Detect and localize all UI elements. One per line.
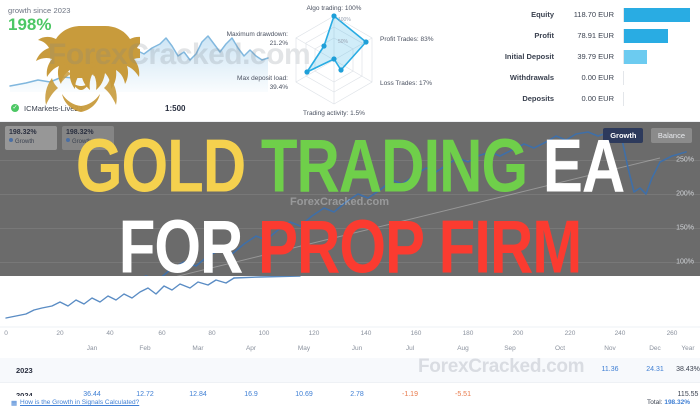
stat-label: Deposits [480,94,554,103]
stat-bar-track [623,29,691,43]
broker-name: ICMarkets-Live23 [24,104,83,113]
stat-bar-track [623,71,691,85]
month-header-jul: Jul [406,345,414,352]
stat-value: 118.70 EUR [560,10,614,19]
x-tick: 240 [615,330,626,337]
growth-chart-tail [0,276,700,332]
stats-table: Equity 118.70 EUR Profit 78.91 EUR Initi… [480,6,694,118]
x-tick: 180 [463,330,474,337]
cell-2023-dec: 24.31 [646,366,664,373]
stat-bar [624,8,690,22]
stat-bar-track [623,92,691,106]
stat-value: 78.91 EUR [560,31,614,40]
radar-ring-outer-label: 100% [338,17,351,23]
stat-row-withdrawals: Withdrawals 0.00 EUR [480,69,694,90]
series-dot-icon [9,138,13,142]
stat-bar [624,50,647,64]
x-tick: 40 [106,330,113,337]
x-tick: 140 [361,330,372,337]
row-year-label: 2023 [16,366,33,375]
month-header-nov: Nov [604,345,616,352]
cell-2023-nov: 11.36 [602,366,619,373]
x-tick: 0 [4,330,8,337]
footer-total: Total: 198.32% [647,399,690,406]
month-header-mar: Mar [192,345,203,352]
radar-label-profit-trades: Profit Trades: 83% [380,36,434,43]
stat-value: 0.00 EUR [560,73,614,82]
radar-ring-inner-label: 50% [338,39,349,45]
stat-label: Profit [480,31,554,40]
tab-growth[interactable]: Growth [603,128,643,143]
month-header-oct: Oct [555,345,565,352]
radar-label-algo-trading: Algo trading: 100% [307,5,362,12]
stat-label: Initial Deposit [480,52,554,61]
radar-label-trading-activity: Trading activity: 1.5% [303,110,365,117]
x-tick: 160 [411,330,422,337]
x-tick: 120 [309,330,320,337]
table-row: 2023 11.36 24.31 38.43% [0,358,700,382]
month-header-apr: Apr [246,345,256,352]
chart-mode-toggle[interactable]: Growth Balance [603,128,692,143]
cell-2023-year: 38.43% [676,366,700,373]
stat-row-equity: Equity 118.70 EUR [480,6,694,27]
month-header-aug: Aug [457,345,469,352]
stat-label: Withdrawals [480,73,554,82]
table-month-header: Jan Feb Mar Apr May Jun Jul Aug Sep Oct … [0,345,700,358]
month-header-jan: Jan [87,345,97,352]
month-header-may: May [298,345,310,352]
check-badge-icon: ✓ [11,104,19,112]
radar-label-maximum-drawdown-1: Maximum drawdown: [227,31,289,38]
stat-bar-track [623,8,691,22]
chart-tooltip: 198.32% Growth [5,126,57,150]
stat-value: 0.00 EUR [560,94,614,103]
stat-row-profit: Profit 78.91 EUR [480,27,694,48]
x-tick: 20 [56,330,63,337]
month-header-dec: Dec [649,345,661,352]
x-tick: 100 [259,330,270,337]
x-tick: 200 [513,330,524,337]
month-header-jun: Jun [352,345,362,352]
year-header: Year [681,345,694,352]
radar-label-max-deposit-load-2: 39.4% [270,84,289,91]
stat-label: Equity [480,10,554,19]
x-axis-ticks: 0 20 40 60 80 100 120 140 160 180 200 22… [0,330,700,344]
account-summary-strip: growth since 2023 198% ✓ ICMarkets-Live2… [0,0,700,122]
tooltip-series-label: Growth [15,139,34,145]
series-dot-icon [66,138,70,142]
leverage-value: 1:500 [165,104,185,113]
radar-chart: 100% 50% Algo trading: 100% Profit Trade… [210,2,480,120]
stat-row-deposits: Deposits 0.00 EUR [480,90,694,111]
x-tick: 220 [565,330,576,337]
radar-label-loss-trades: Loss Trades: 17% [380,80,432,87]
tooltip-series: Growth [9,138,53,146]
x-tick: 80 [208,330,215,337]
footer-total-label: Total: [647,399,663,406]
growth-calculation-link[interactable]: How is the Growth in Signals Calculated? [20,399,139,406]
tab-balance[interactable]: Balance [651,128,692,143]
chart-tooltip-secondary: 198.32% Growth [62,126,114,150]
month-header-feb: Feb [139,345,150,352]
month-header-sep: Sep [504,345,516,352]
tooltip-series-2: Growth [66,138,110,146]
tooltip-value-2: 198.32% [66,129,110,137]
stat-value: 39.79 EUR [560,52,614,61]
x-tick: 60 [158,330,165,337]
stat-bar [624,29,668,43]
stat-row-initial-deposit: Initial Deposit 39.79 EUR [480,48,694,69]
radar-label-maximum-drawdown-2: 21.2% [270,40,289,47]
info-icon: ▦ [11,399,17,407]
tooltip-value: 198.32% [9,129,53,137]
stat-bar-track [623,50,691,64]
table-footer: ▦ How is the Growth in Signals Calculate… [0,396,700,412]
tooltip-series-label-2: Growth [72,139,91,145]
footer-total-value: 198.32% [664,399,690,406]
radar-label-max-deposit-load-1: Max deposit load: [237,75,288,82]
x-tick: 260 [667,330,678,337]
